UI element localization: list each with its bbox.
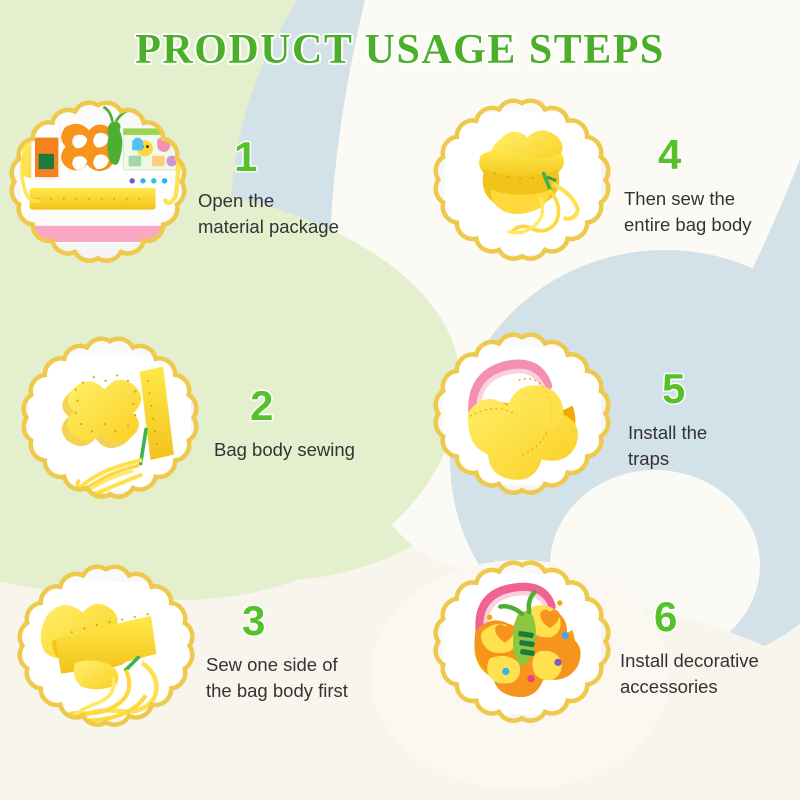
step-1-photo-frame	[8, 98, 188, 278]
step-2-photo-frame	[20, 334, 200, 514]
step-6: 6 Install decorative accessories	[432, 558, 800, 738]
step-1: 1 Open the material package	[8, 98, 388, 278]
step-3: 3 Sew one side of the bag body first	[16, 562, 406, 742]
step-1-description: Open the material package	[198, 188, 388, 239]
step-2-description: Bag body sewing	[214, 437, 409, 463]
step-4-description: Then sew the entire bag body	[624, 186, 800, 237]
step-1-number: 1	[198, 136, 388, 178]
infographic-canvas: PRODUCT USAGE STEPS	[0, 0, 800, 800]
step-3-number: 3	[206, 600, 406, 642]
step-5-photo-frame	[432, 330, 612, 510]
step-1-photo	[8, 98, 188, 278]
step-2-photo	[20, 334, 200, 514]
step-3-photo	[16, 562, 196, 742]
step-4: 4 Then sew the entire bag body	[432, 96, 800, 276]
step-3-description: Sew one side of the bag body first	[206, 652, 406, 703]
step-5-description: Install the traps	[628, 420, 788, 471]
step-4-photo	[432, 96, 612, 276]
step-5-text: 5 Install the traps	[628, 368, 788, 471]
step-3-text: 3 Sew one side of the bag body first	[206, 600, 406, 703]
step-4-number: 4	[624, 134, 800, 176]
step-6-photo-frame	[432, 558, 612, 738]
step-5: 5 Install the traps	[432, 330, 788, 510]
step-2-number: 2	[214, 385, 409, 427]
step-3-photo-frame	[16, 562, 196, 742]
step-2-text: 2 Bag body sewing	[214, 385, 409, 463]
step-5-number: 5	[628, 368, 788, 410]
step-2: 2 Bag body sewing	[20, 334, 409, 514]
step-4-text: 4 Then sew the entire bag body	[624, 134, 800, 237]
step-1-text: 1 Open the material package	[198, 136, 388, 239]
step-6-description: Install decorative accessories	[620, 648, 800, 699]
step-4-photo-frame	[432, 96, 612, 276]
step-5-photo	[432, 330, 612, 510]
step-6-text: 6 Install decorative accessories	[620, 596, 800, 699]
page-title: PRODUCT USAGE STEPS	[0, 26, 800, 74]
step-6-number: 6	[620, 596, 800, 638]
step-6-photo	[432, 558, 612, 738]
